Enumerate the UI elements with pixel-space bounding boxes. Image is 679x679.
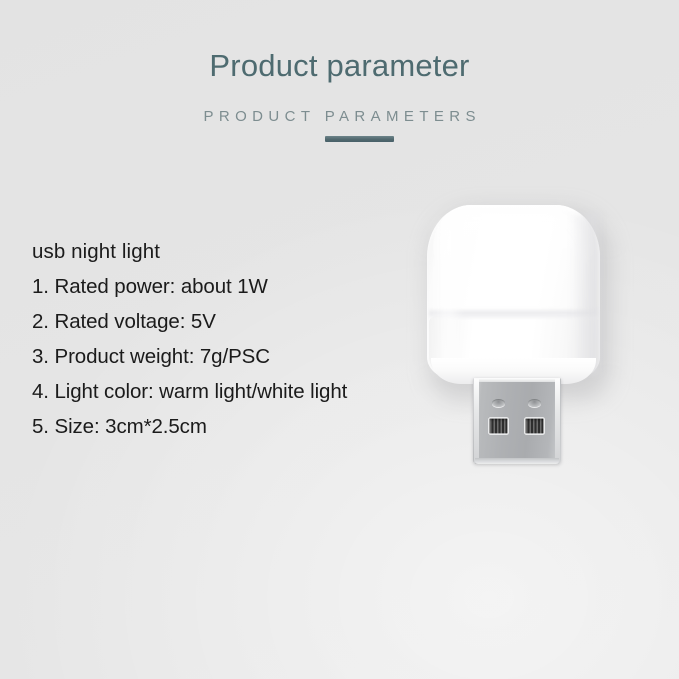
specification-list: usb night light 1. Rated power: about 1W…	[32, 234, 432, 444]
lamp-right-edge-shade	[570, 214, 600, 374]
spec-item-size: 5. Size: 3cm*2.5cm	[32, 409, 432, 444]
usb-metal-shell	[473, 378, 561, 464]
usb-right-rail	[555, 379, 560, 463]
product-photo-usb-night-light	[420, 196, 616, 482]
usb-top-rim	[474, 378, 560, 382]
spec-lead-label: usb night light	[32, 234, 432, 269]
usb-bottom-rim	[475, 458, 559, 464]
spec-item-light-color: 4. Light color: warm light/white light	[32, 374, 432, 409]
usb-left-rail	[474, 379, 479, 463]
lamp-left-gloss	[432, 222, 462, 372]
usb-dimple-right	[528, 399, 541, 407]
usb-contact-slot-left	[488, 417, 509, 435]
accent-underline-bar	[325, 136, 394, 142]
usb-contact-slot-right	[524, 417, 545, 435]
spec-item-rated-power: 1. Rated power: about 1W	[32, 269, 432, 304]
spec-item-product-weight: 3. Product weight: 7g/PSC	[32, 339, 432, 374]
usb-a-connector	[473, 378, 561, 464]
spec-item-rated-voltage: 2. Rated voltage: 5V	[32, 304, 432, 339]
usb-dimple-left	[492, 399, 505, 407]
product-parameter-page: Product parameter PRODUCT PARAMETERS usb…	[0, 0, 679, 679]
page-title: Product parameter	[0, 48, 679, 84]
page-subtitle: PRODUCT PARAMETERS	[0, 108, 679, 125]
